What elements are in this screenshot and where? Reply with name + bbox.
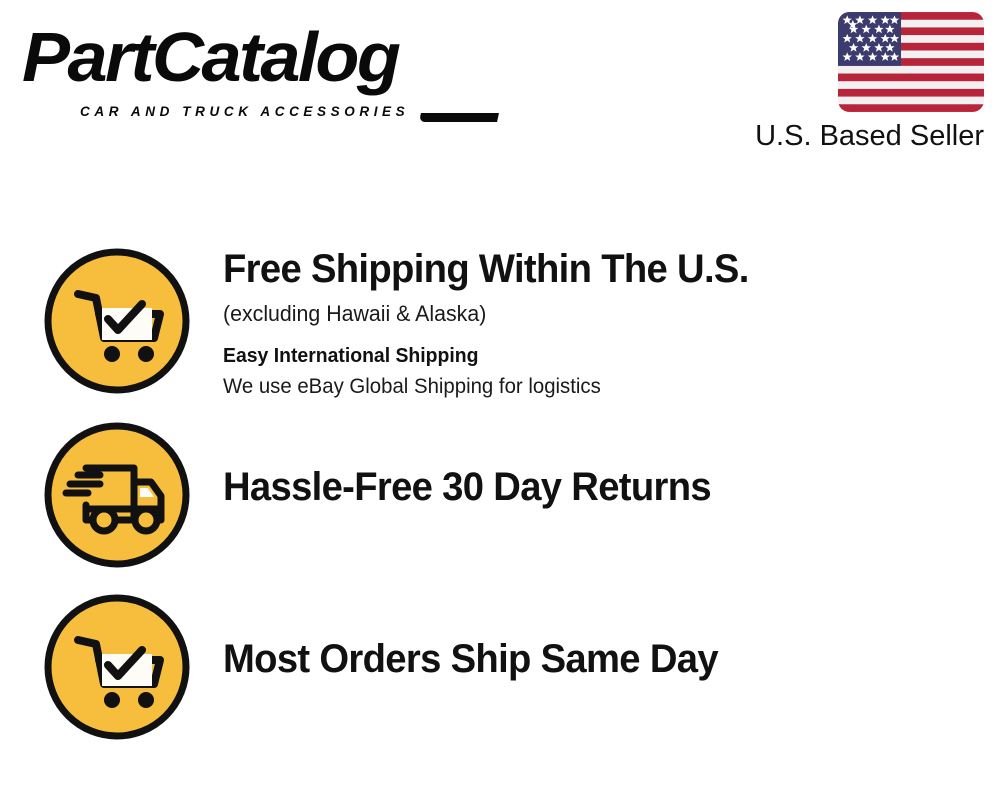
us-flag-badge <box>838 10 984 114</box>
feature-title: Free Shipping Within The U.S. <box>223 246 749 292</box>
shopping-cart-check-icon <box>42 246 192 396</box>
feature-row: Hassle-Free 30 Day Returns <box>0 420 1000 570</box>
feature-badge-1 <box>42 246 192 396</box>
brand-logo[interactable]: PartCatalog CAR AND TRUCK ACCESSORIES <box>22 18 502 128</box>
feature-title: Most Orders Ship Same Day <box>223 636 718 682</box>
feature-row: Most Orders Ship Same Day <box>0 592 1000 742</box>
delivery-truck-icon <box>42 420 192 570</box>
us-flag-icon <box>838 10 984 114</box>
brand-wordmark: PartCatalog <box>22 18 398 96</box>
feature-badge-3 <box>42 592 192 742</box>
feature-subtitle-strong: Easy International Shipping <box>223 342 757 370</box>
feature-badge-2 <box>42 420 192 570</box>
feature-text-3: Most Orders Ship Same Day <box>223 592 741 682</box>
brand-underline-swoosh <box>419 113 499 122</box>
feature-text-2: Hassle-Free 30 Day Returns <box>223 420 734 510</box>
feature-subtitle-detail: We use eBay Global Shipping for logistic… <box>223 372 757 402</box>
feature-text-1: Free Shipping Within The U.S. (excluding… <box>223 246 773 402</box>
feature-title: Hassle-Free 30 Day Returns <box>223 464 711 510</box>
us-based-seller-label: U.S. Based Seller <box>755 118 984 154</box>
page-header: PartCatalog CAR AND TRUCK ACCESSORIES <box>0 0 1000 170</box>
feature-row: Free Shipping Within The U.S. (excluding… <box>0 246 1000 402</box>
brand-tagline: CAR AND TRUCK ACCESSORIES <box>80 104 409 120</box>
shopping-cart-check-icon <box>42 592 192 742</box>
feature-subtitle: (excluding Hawaii & Alaska) <box>223 298 757 330</box>
